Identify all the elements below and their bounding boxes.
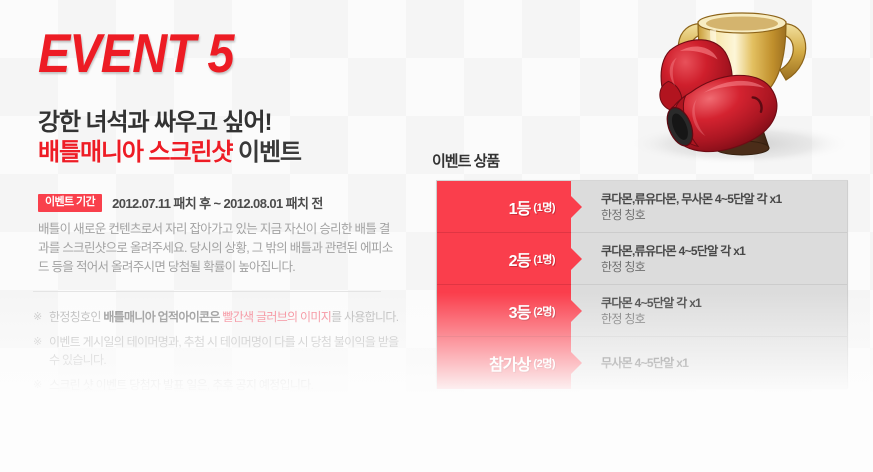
prize-rank-count: (1명)	[533, 199, 555, 215]
prize-main-text: 쿠다몬,류유다몬 4~5단알 각 x1	[601, 243, 847, 259]
section-divider	[33, 291, 381, 292]
prize-rank-label: 2등	[509, 247, 531, 271]
prize-table: 1등 (1명) 쿠다몬,류유다몬, 무사몬 4~5단알 각 x1 한정 칭호 2…	[436, 180, 848, 389]
note-text-pink: 빨간색 글러브의 이미지	[222, 310, 331, 324]
table-row: 3등 (2명) 쿠다몬 4~5단알 각 x1 한정 칭호	[437, 285, 847, 337]
prize-detail-cell: 쿠다몬,류유다몬, 무사몬 4~5단알 각 x1 한정 칭호	[571, 181, 847, 232]
note-marker-icon: ※	[33, 376, 42, 394]
event-period-badge: 이벤트 기간	[38, 194, 102, 212]
note-text: 이벤트 게시일의 테이머명과, 추첨 시 테이머명이 다를 시 당첨 불이익을 …	[49, 335, 399, 367]
table-row: 참가상 (2명) 무사몬 4~5단알 x1	[437, 337, 847, 388]
event-description: 배틀이 새로운 컨텐츠로서 자리 잡아가고 있는 지금 자신이 승리한 배틀 결…	[38, 220, 398, 277]
headline-line-1: 강한 녀석과 싸우고 싶어!	[38, 109, 271, 136]
prize-detail-cell: 쿠다몬 4~5단알 각 x1 한정 칭호	[571, 285, 847, 336]
event-period-row: 이벤트 기간 2012.07.11 패치 후 ~ 2012.08.01 패치 전	[38, 193, 323, 212]
trophy-and-boxing-gloves-artwork	[612, 2, 873, 177]
prize-rank-cell: 3등 (2명)	[437, 285, 571, 337]
prize-rank-label: 참가상	[489, 351, 530, 375]
chevron-right-icon	[571, 300, 582, 322]
event-banner: EVENT 5 강한 녀석과 싸우고 싶어! 배틀매니아 스크린샷 이벤트 이벤…	[0, 0, 873, 472]
table-row: 2등 (1명) 쿠다몬,류유다몬 4~5단알 각 x1 한정 칭호	[437, 233, 847, 285]
prize-rank-cell: 참가상 (2명)	[437, 337, 571, 389]
prize-sub-text: 한정 칭호	[601, 207, 847, 223]
note-item: ※ 스크린 샷 이벤트 당첨자 발표 일은, 추후 공지 예정입니다.	[33, 376, 405, 394]
chevron-right-icon	[571, 196, 582, 218]
prize-section-heading: 이벤트 상품	[432, 150, 499, 171]
prize-sub-text: 한정 칭호	[601, 311, 847, 327]
prize-rank-label: 3등	[509, 299, 531, 323]
prize-rank-cell: 1등 (1명)	[437, 181, 571, 233]
prize-sub-text: 한정 칭호	[601, 259, 847, 275]
headline-line-2-suffix: 이벤트	[238, 139, 301, 166]
chevron-right-icon	[571, 352, 582, 374]
event-period-value: 2012.07.11 패치 후 ~ 2012.08.01 패치 전	[112, 193, 323, 212]
note-marker-icon: ※	[33, 333, 42, 351]
note-text-pre: 한정칭호인	[49, 310, 103, 324]
note-item: ※ 한정칭호인 배틀매니아 업적아이콘은 빨간색 글러브의 이미지를 사용합니다…	[33, 308, 405, 326]
note-text-post: 를 사용합니다.	[331, 310, 398, 324]
prize-rank-cell: 2등 (1명)	[437, 233, 571, 285]
prize-rank-label: 1등	[509, 195, 531, 219]
prize-main-text: 무사몬 4~5단알 x1	[601, 355, 847, 371]
prize-main-text: 쿠다몬 4~5단알 각 x1	[601, 295, 847, 311]
left-content-column: EVENT 5 강한 녀석과 싸우고 싶어! 배틀매니아 스크린샷 이벤트 이벤…	[0, 0, 430, 472]
headline: 강한 녀석과 싸우고 싶어! 배틀매니아 스크린샷 이벤트	[38, 108, 301, 168]
headline-line-2-highlight: 배틀매니아 스크린샷	[38, 139, 232, 166]
note-text-bold: 배틀매니아 업적아이콘은	[103, 310, 222, 324]
event-title: EVENT 5	[38, 22, 234, 84]
prize-main-text: 쿠다몬,류유다몬, 무사몬 4~5단알 각 x1	[601, 191, 847, 207]
prize-rank-count: (2명)	[533, 355, 555, 371]
note-text: 스크린 샷 이벤트 당첨자 발표 일은, 추후 공지 예정입니다.	[49, 378, 313, 392]
prize-rank-count: (2명)	[533, 303, 555, 319]
note-marker-icon: ※	[33, 308, 42, 326]
prize-detail-cell: 쿠다몬,류유다몬 4~5단알 각 x1 한정 칭호	[571, 233, 847, 284]
prize-detail-cell: 무사몬 4~5단알 x1	[571, 337, 847, 388]
prize-rank-count: (1명)	[533, 251, 555, 267]
chevron-right-icon	[571, 248, 582, 270]
table-row: 1등 (1명) 쿠다몬,류유다몬, 무사몬 4~5단알 각 x1 한정 칭호	[437, 181, 847, 233]
notes-list: ※ 한정칭호인 배틀매니아 업적아이콘은 빨간색 글러브의 이미지를 사용합니다…	[33, 308, 405, 401]
note-item: ※ 이벤트 게시일의 테이머명과, 추첨 시 테이머명이 다를 시 당첨 불이익…	[33, 333, 405, 369]
